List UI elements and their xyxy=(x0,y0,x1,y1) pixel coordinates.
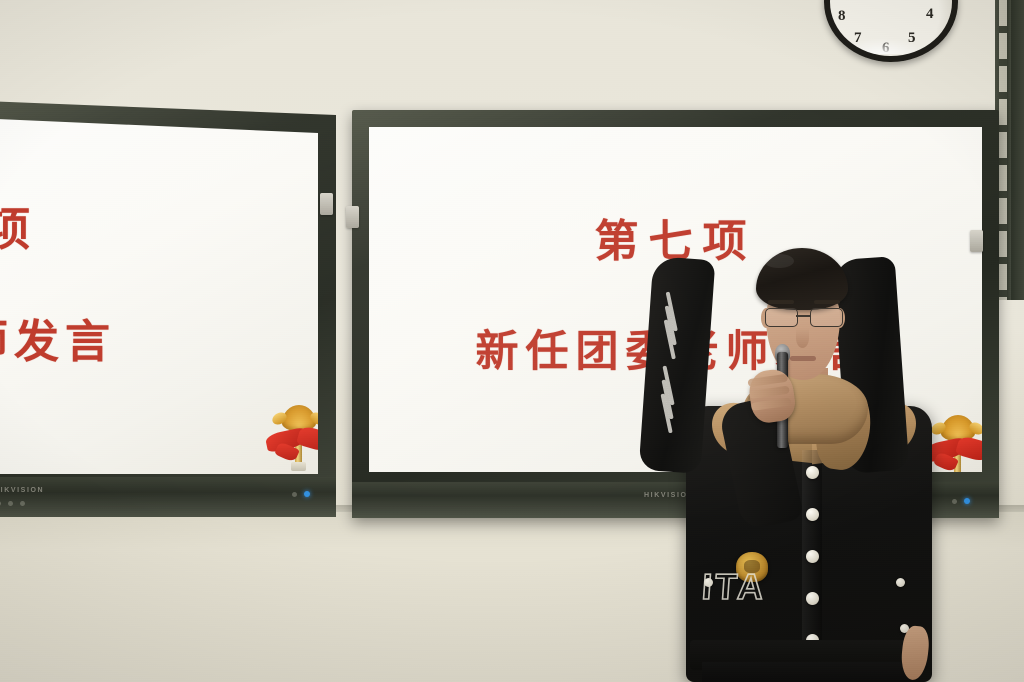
mouth xyxy=(790,356,816,361)
jacket-button-1 xyxy=(806,466,819,479)
photo-scene: 8 7 6 5 4 9 七项 老师发言 xyxy=(0,0,1024,682)
glasses-lens-left xyxy=(765,308,798,327)
eyebrow-right xyxy=(814,300,840,304)
display-board-left[interactable]: 七项 老师发言 HIKVISION xyxy=(0,97,336,517)
board-right-power-area[interactable] xyxy=(952,498,970,504)
finger xyxy=(751,397,792,410)
board-right-sensor xyxy=(952,499,957,504)
slide-left-title: 七项 xyxy=(0,193,40,258)
wall-edge-strip-inner xyxy=(999,0,1007,300)
board-left-screen[interactable]: 七项 老师发言 xyxy=(0,119,318,474)
clock-number-8: 8 xyxy=(838,8,846,25)
clock-number-4: 4 xyxy=(926,6,934,23)
speaker: ITA xyxy=(650,248,950,682)
glasses-lens-right xyxy=(810,308,843,327)
slide-left-subtitle: 老师发言 xyxy=(0,305,116,370)
jacket-pocket-button-right xyxy=(896,578,905,587)
ornament-base xyxy=(291,462,306,471)
board-right-mount-clip-left xyxy=(346,206,359,228)
finger xyxy=(747,374,788,387)
board-left-controls[interactable] xyxy=(0,501,25,506)
pants xyxy=(702,662,920,682)
nose xyxy=(796,328,809,348)
board-left-btn-3[interactable] xyxy=(20,501,25,506)
board-right-mount-clip-right xyxy=(970,230,983,252)
board-left-power-led xyxy=(304,491,310,497)
jacket-button-4 xyxy=(806,592,819,605)
board-left-btn-2[interactable] xyxy=(8,501,13,506)
board-left-power-area[interactable] xyxy=(292,491,310,497)
finger xyxy=(749,386,790,399)
slide-left: 七项 老师发言 xyxy=(0,119,318,474)
board-left-sensor xyxy=(292,492,297,497)
eyebrow-left xyxy=(768,300,794,304)
board-left-brand-label: HIKVISION xyxy=(0,487,44,494)
glasses-bridge xyxy=(796,315,810,317)
board-left-bottom-bezel: HIKVISION xyxy=(0,477,336,517)
glasses-icon xyxy=(762,308,846,326)
board-left-mount-clip xyxy=(320,193,333,215)
clock-glare xyxy=(840,38,925,54)
slide-left-ornament xyxy=(270,405,318,471)
jacket-logo-text: ITA xyxy=(701,566,768,608)
board-right-power-led xyxy=(964,498,970,504)
board-left-btn-1[interactable] xyxy=(0,501,1,506)
jacket-button-2 xyxy=(806,508,819,521)
wall-edge-strip-outer xyxy=(1011,0,1024,300)
jacket-button-3 xyxy=(806,550,819,563)
